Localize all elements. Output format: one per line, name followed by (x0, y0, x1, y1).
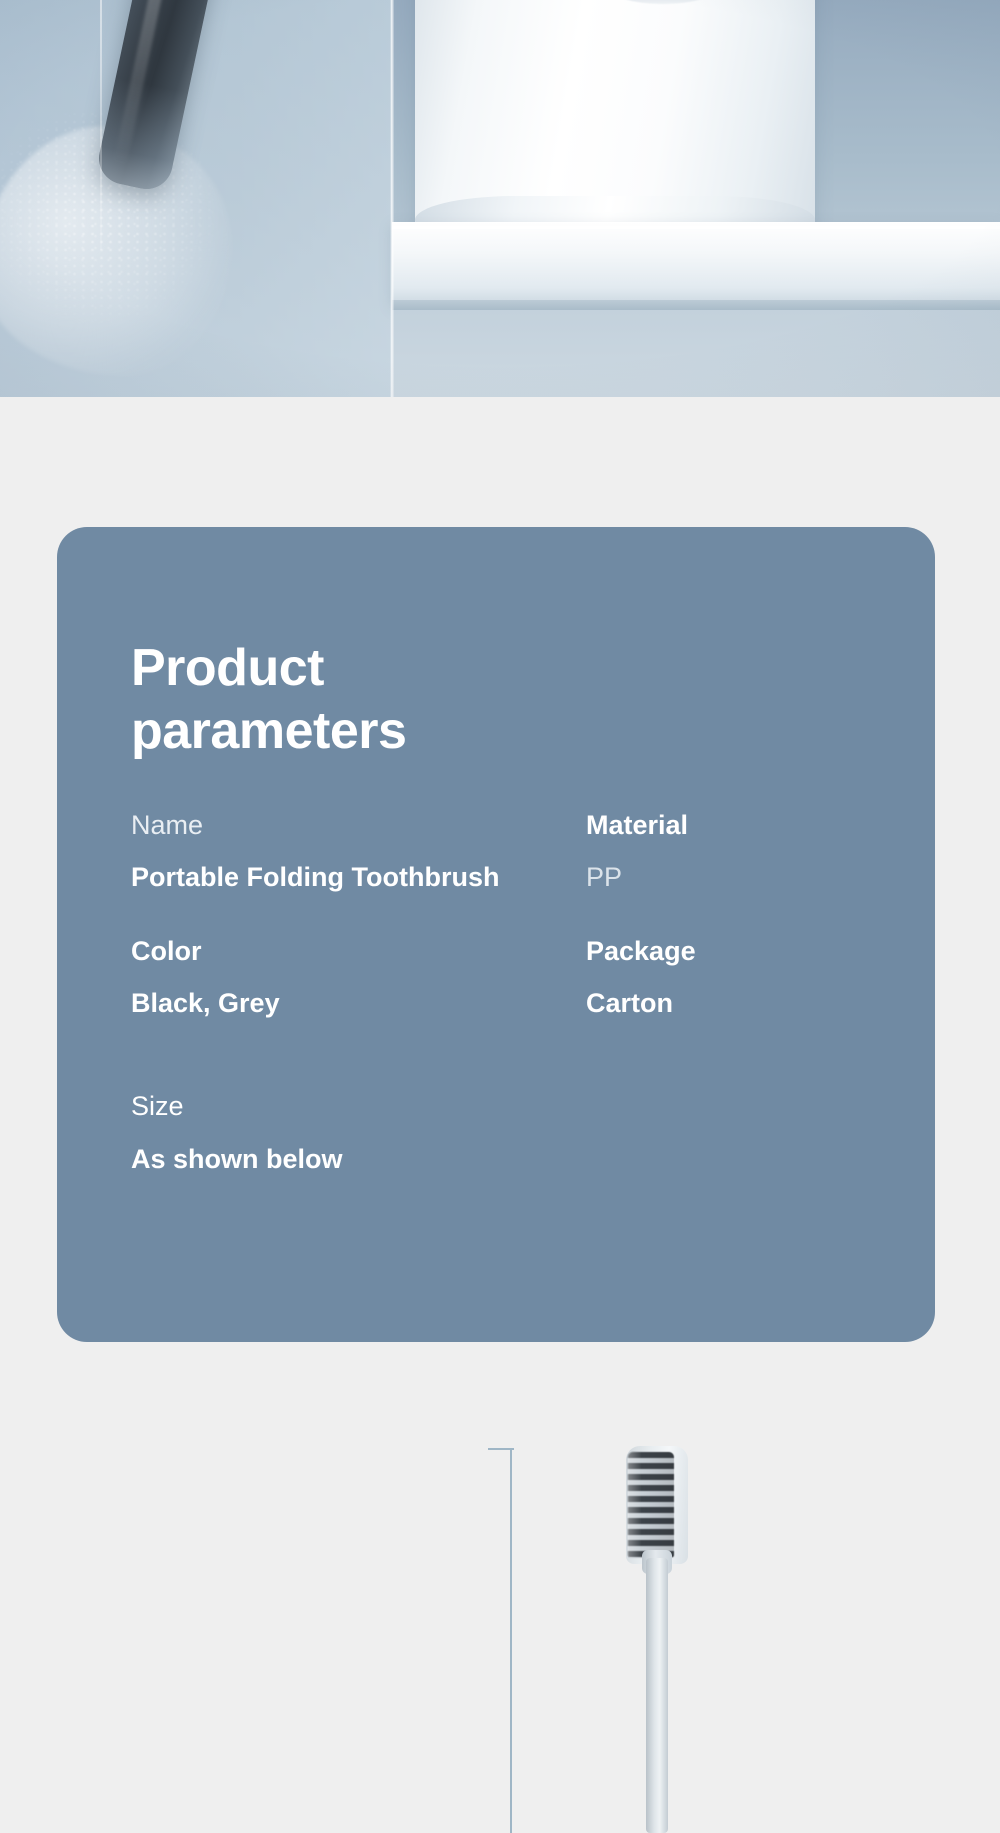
spec-cell-size: Size As shown below (131, 1091, 586, 1175)
spec-label-size: Size (131, 1091, 586, 1122)
card-title-line-2: parameters (131, 700, 561, 763)
spec-table: Name Portable Folding Toothbrush Materia… (131, 812, 879, 1175)
dimension-line-icon (510, 1448, 512, 1833)
spec-value-material: PP (586, 859, 879, 896)
product-size-diagram (0, 1342, 1000, 1833)
spec-label-color: Color (131, 938, 586, 965)
spec-row-spacer-2 (131, 1021, 586, 1091)
spec-value-size: As shown below (131, 1144, 586, 1175)
product-parameters-card: Product parameters Name Portable Folding… (57, 527, 935, 1342)
spec-label-package: Package (586, 938, 879, 965)
hero-vignette (0, 0, 1000, 397)
card-title-line-1: Product (131, 637, 561, 700)
spec-cell-package: Package Carton (586, 938, 879, 1022)
hero-product-photo (0, 0, 1000, 397)
spec-label-material: Material (586, 812, 879, 839)
dimension-line-cap-icon (488, 1448, 514, 1450)
card-title: Product parameters (131, 637, 561, 764)
spec-cell-size-empty (586, 1091, 879, 1175)
spec-cell-color: Color Black, Grey (131, 938, 586, 1022)
card-content: Product parameters Name Portable Folding… (131, 637, 879, 1175)
spec-value-name: Portable Folding Toothbrush (131, 859, 586, 896)
toothbrush-illustration (500, 1430, 760, 1833)
spec-cell-material: Material PP (586, 812, 879, 896)
spec-value-color: Black, Grey (131, 985, 586, 1022)
spec-label-name: Name (131, 812, 586, 839)
toothbrush-bristles-shading (628, 1452, 674, 1558)
spec-row-spacer-1 (131, 896, 586, 938)
product-detail-page: Product parameters Name Portable Folding… (0, 0, 1000, 1833)
spec-row-spacer-1b (586, 896, 879, 938)
toothbrush-handle (646, 1558, 668, 1833)
spec-cell-name: Name Portable Folding Toothbrush (131, 812, 586, 896)
spec-row-spacer-2b (586, 1021, 879, 1091)
spec-value-package: Carton (586, 985, 879, 1022)
